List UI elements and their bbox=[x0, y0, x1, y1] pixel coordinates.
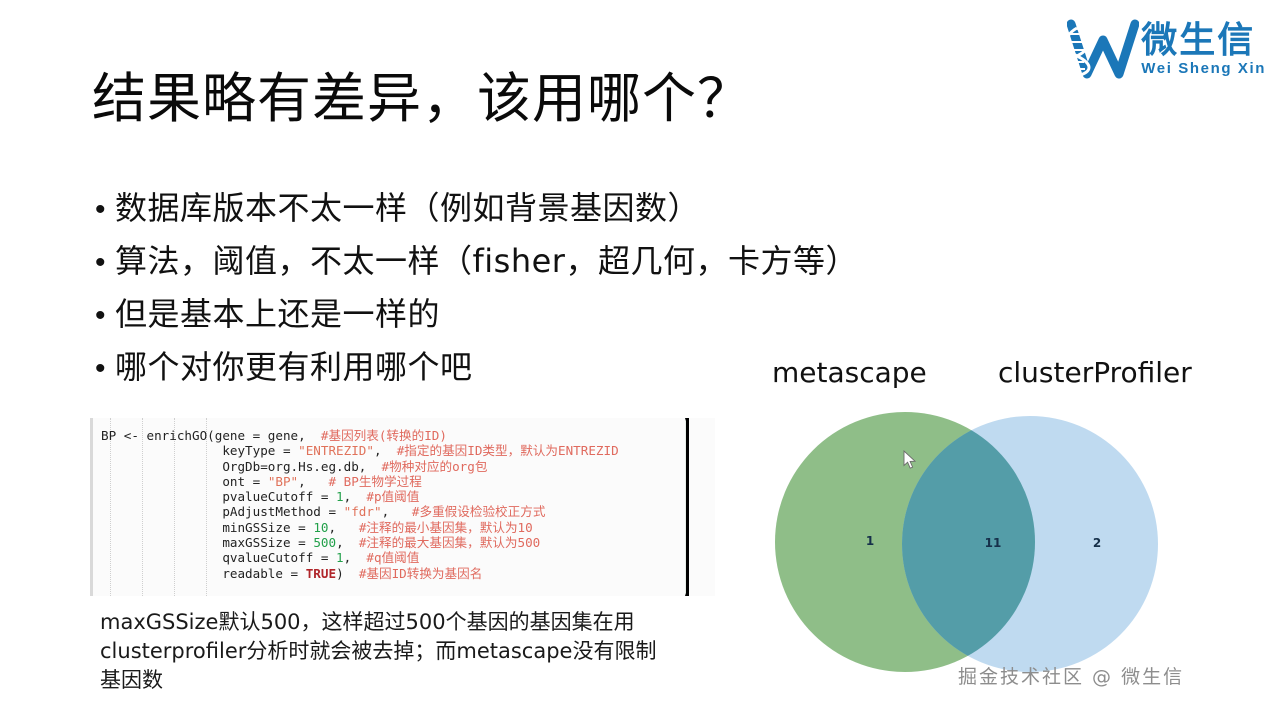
code-token: ont = bbox=[101, 474, 268, 489]
caption-line: maxGSSize默认500，这样超过500个基因的基因集在用 bbox=[100, 608, 720, 637]
code-token: , bbox=[336, 535, 359, 550]
code-token: "BP" bbox=[268, 474, 298, 489]
bullet-text: 算法，阈值，不太一样（fisher，超几何，卡方等） bbox=[115, 241, 858, 282]
code-caption: maxGSSize默认500，这样超过500个基因的基因集在用 clusterp… bbox=[100, 608, 720, 695]
code-token: #基因列表(转换的ID) bbox=[321, 428, 447, 443]
page-title: 结果略有差异，该用哪个？ bbox=[92, 54, 752, 133]
code-token: , bbox=[374, 443, 397, 458]
code-token: #q值阈值 bbox=[366, 550, 419, 565]
watermark-text: 掘金技术社区 @ 微生信 bbox=[958, 662, 1184, 689]
code-token: keyType = bbox=[101, 443, 298, 458]
code-line: BP <- enrichGO(gene = gene, #基因列表(转换的ID) bbox=[101, 428, 715, 443]
bullet-marker-icon: • bbox=[95, 248, 115, 278]
code-line: qvalueCutoff = 1, #q值阈值 bbox=[101, 550, 715, 565]
code-token: "fdr" bbox=[344, 504, 382, 519]
code-token: # BP生物学过程 bbox=[329, 474, 422, 489]
bullet-marker-icon: • bbox=[95, 195, 115, 225]
code-line: pvalueCutoff = 1, #p值阈值 bbox=[101, 489, 715, 504]
code-token: 1 bbox=[336, 489, 344, 504]
code-token: pvalueCutoff = bbox=[101, 489, 336, 504]
bullet-marker-icon: • bbox=[95, 354, 115, 384]
code-token: #基因ID转换为基因名 bbox=[359, 566, 483, 581]
code-token: qvalueCutoff = bbox=[101, 550, 336, 565]
venn-right-label: clusterProfiler bbox=[998, 356, 1192, 389]
code-line: readable = TRUE) #基因ID转换为基因名 bbox=[101, 566, 715, 581]
code-line: OrgDb=org.Hs.eg.db, #物种对应的org包 bbox=[101, 459, 715, 474]
dna-w-logo-icon bbox=[1067, 18, 1139, 82]
code-line: pAdjustMethod = "fdr", #多重假设检验校正方式 bbox=[101, 504, 715, 519]
list-item: • 但是基本上还是一样的 bbox=[95, 294, 995, 335]
code-token: minGSSize = bbox=[101, 520, 313, 535]
venn-circles: 1 11 2 bbox=[760, 392, 1230, 697]
code-token: #注释的最小基因集，默认为10 bbox=[359, 520, 533, 535]
code-token: , bbox=[298, 474, 328, 489]
code-token: 500 bbox=[313, 535, 336, 550]
bullet-text: 哪个对你更有利用哪个吧 bbox=[115, 347, 473, 388]
code-token: 1 bbox=[336, 550, 344, 565]
code-token: 10 bbox=[313, 520, 328, 535]
code-token: #p值阈值 bbox=[366, 489, 419, 504]
code-token: ) bbox=[336, 566, 359, 581]
code-token: #指定的基因ID类型，默认为ENTREZID bbox=[397, 443, 619, 458]
code-token: maxGSSize = bbox=[101, 535, 313, 550]
venn-count-left-only: 1 bbox=[866, 534, 874, 548]
venn-diagram: metascape clusterProfiler 1 11 2 掘金技术社区 … bbox=[760, 352, 1260, 702]
logo-chinese-text: 微生信 bbox=[1141, 22, 1266, 60]
code-token: BP <- enrichGO(gene = gene, bbox=[101, 428, 321, 443]
code-token: , bbox=[382, 504, 412, 519]
code-token: , bbox=[328, 520, 358, 535]
venn-count-intersection: 11 bbox=[985, 536, 1002, 550]
code-token: #物种对应的org包 bbox=[382, 459, 488, 474]
caption-line: 基因数 bbox=[100, 666, 720, 695]
code-line: keyType = "ENTREZID", #指定的基因ID类型，默认为ENTR… bbox=[101, 443, 715, 458]
mouse-pointer-icon bbox=[903, 450, 917, 470]
logo-english-text: Wei Sheng Xin bbox=[1141, 60, 1266, 78]
venn-left-label: metascape bbox=[772, 356, 927, 389]
code-token: OrgDb=org.Hs.eg.db, bbox=[101, 459, 382, 474]
bullet-marker-icon: • bbox=[95, 301, 115, 331]
code-token: , bbox=[344, 489, 367, 504]
code-token: readable = bbox=[101, 566, 306, 581]
code-token: pAdjustMethod = bbox=[101, 504, 344, 519]
bullet-text: 但是基本上还是一样的 bbox=[115, 294, 440, 335]
code-token: TRUE bbox=[306, 566, 336, 581]
slide-canvas: 微生信 Wei Sheng Xin 结果略有差异，该用哪个？ • 数据库版本不太… bbox=[0, 0, 1280, 720]
code-line: maxGSSize = 500, #注释的最大基因集，默认为500 bbox=[101, 535, 715, 550]
code-line: minGSSize = 10, #注释的最小基因集，默认为10 bbox=[101, 520, 715, 535]
code-line: ont = "BP", # BP生物学过程 bbox=[101, 474, 715, 489]
list-item: • 算法，阈值，不太一样（fisher，超几何，卡方等） bbox=[95, 241, 995, 282]
code-token: "ENTREZID" bbox=[298, 443, 374, 458]
code-screenshot: BP <- enrichGO(gene = gene, #基因列表(转换的ID)… bbox=[90, 418, 715, 596]
brand-logo: 微生信 Wei Sheng Xin bbox=[1018, 14, 1266, 86]
venn-labels: metascape clusterProfiler bbox=[760, 352, 1260, 396]
code-token: #多重假设检验校正方式 bbox=[412, 504, 546, 519]
code-token: #注释的最大基因集，默认为500 bbox=[359, 535, 540, 550]
code-text: BP <- enrichGO(gene = gene, #基因列表(转换的ID)… bbox=[93, 418, 715, 581]
venn-count-right-only: 2 bbox=[1093, 536, 1101, 550]
caption-line: clusterprofiler分析时就会被去掉；而metascape没有限制 bbox=[100, 637, 720, 666]
bullet-text: 数据库版本不太一样（例如背景基因数） bbox=[115, 188, 700, 229]
code-token: , bbox=[344, 550, 367, 565]
list-item: • 数据库版本不太一样（例如背景基因数） bbox=[95, 188, 995, 229]
